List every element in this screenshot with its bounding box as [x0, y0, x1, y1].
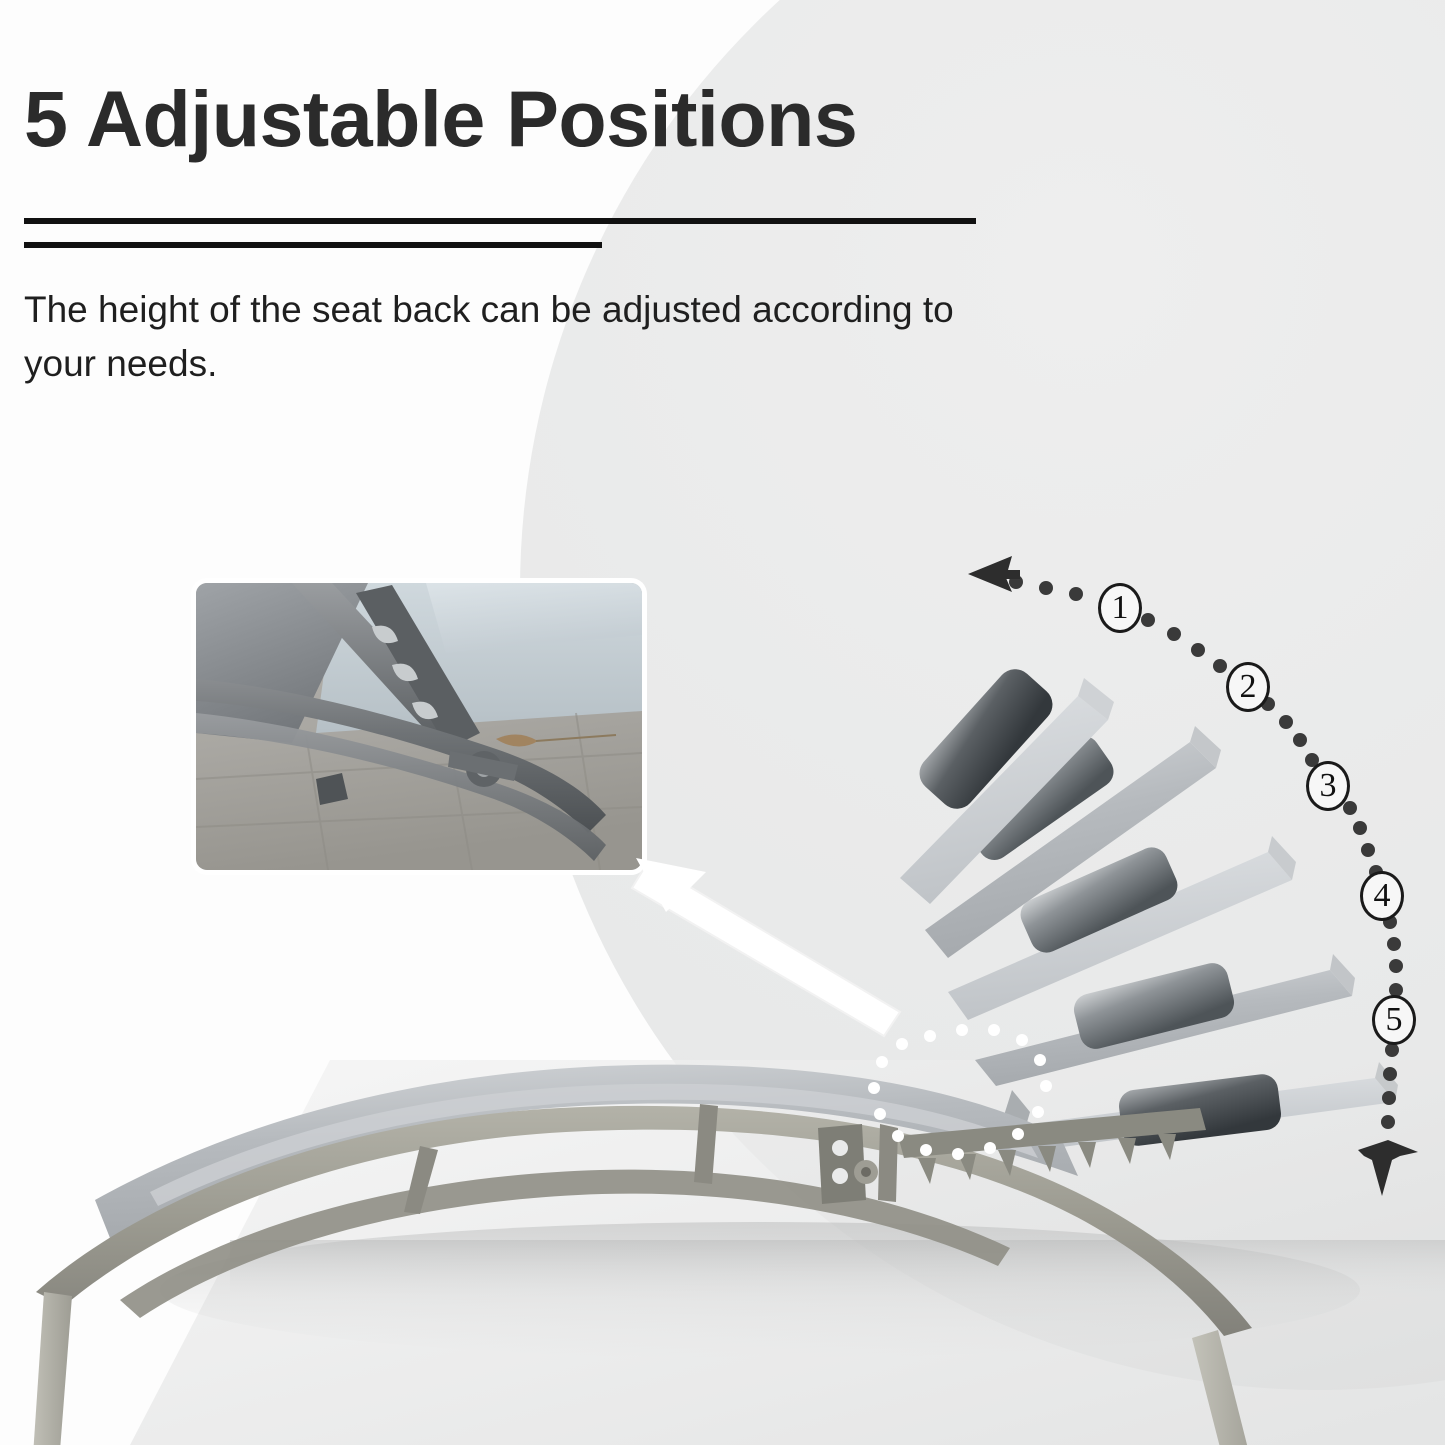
- page-title: 5 Adjustable Positions: [24, 78, 1254, 160]
- inset-detail-photo: [196, 583, 642, 870]
- position-badge-4: 4: [1360, 871, 1404, 921]
- position-badge-2: 2: [1226, 662, 1270, 712]
- page-subtitle: The height of the seat back can be adjus…: [24, 283, 1034, 390]
- divider-line-primary: [24, 218, 976, 224]
- position-badge-3: 3: [1306, 761, 1350, 811]
- divider-line-secondary: [24, 242, 602, 248]
- position-badge-5: 5: [1372, 995, 1416, 1045]
- position-badge-1: 1: [1098, 583, 1142, 633]
- infographic-canvas: 5 Adjustable Positions The height of the…: [0, 0, 1445, 1445]
